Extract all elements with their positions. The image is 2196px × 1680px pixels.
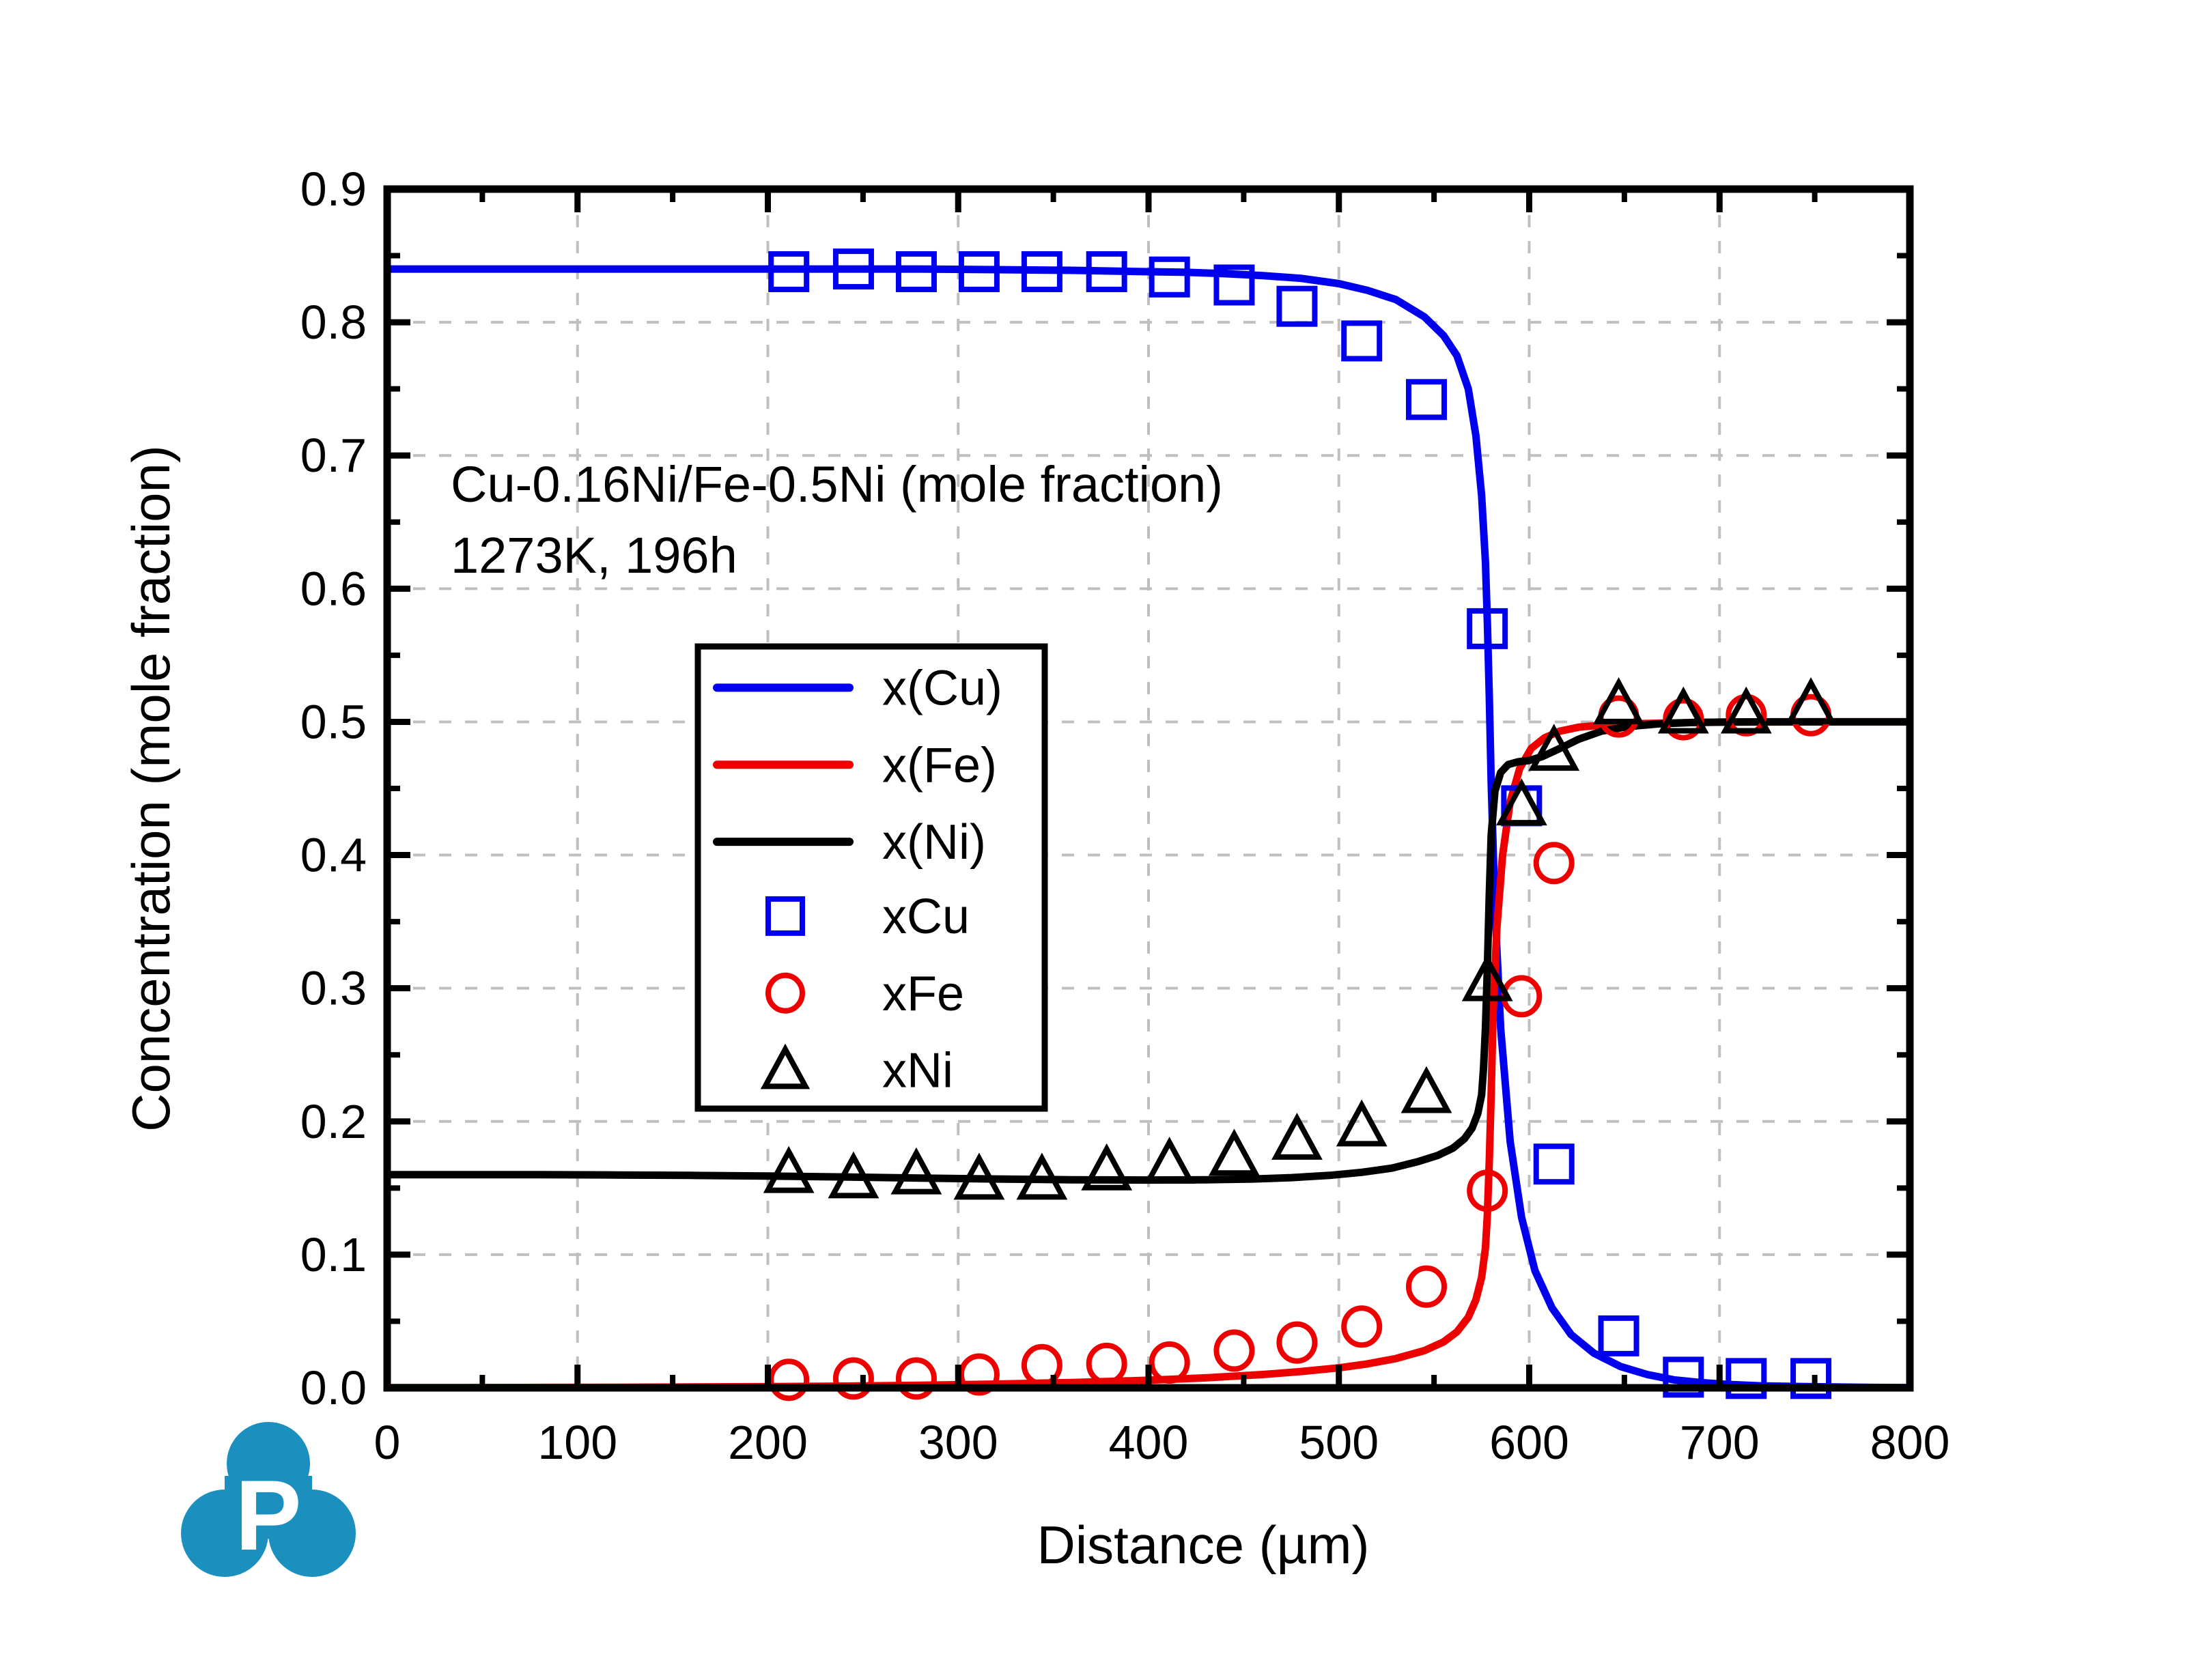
xtick-label: 300	[918, 1416, 998, 1469]
marker-square	[1409, 382, 1444, 417]
ytick-label: 0.0	[300, 1361, 367, 1414]
curve-xcu	[387, 269, 1910, 1388]
grid-lines	[387, 189, 1910, 1388]
x-axis-title: Distance (µm)	[1037, 1515, 1369, 1575]
ytick-label: 0.9	[300, 162, 367, 216]
marker-circle	[1216, 1332, 1252, 1369]
annotation-line: Cu-0.16Ni/Fe-0.5Ni (mole fraction)	[451, 456, 1223, 513]
marker-circle	[1536, 844, 1572, 881]
p-cloud-logo: P	[181, 1422, 356, 1577]
marker-triangle	[1405, 1072, 1447, 1110]
xtick-label: 600	[1489, 1416, 1569, 1469]
marker-triangle	[895, 1153, 937, 1191]
logo-letter: P	[235, 1460, 301, 1571]
marker-square	[1536, 1146, 1572, 1182]
concentration-profile-chart: 01002003004005006007008000.00.10.20.30.4…	[0, 0, 2196, 1680]
chart-legend[interactable]: x(Cu)x(Fe)x(Ni)xCuxFexNi	[698, 646, 1045, 1109]
ytick-label: 0.8	[300, 296, 367, 349]
marker-square	[1152, 259, 1187, 295]
marker-triangle	[1149, 1142, 1190, 1180]
ytick-label: 0.7	[300, 429, 367, 482]
marker-circle	[1152, 1344, 1187, 1381]
ytick-label: 0.6	[300, 562, 367, 615]
marker-circle	[1089, 1346, 1125, 1382]
xtick-label: 700	[1680, 1416, 1760, 1469]
model-curves	[387, 269, 1910, 1388]
legend-label: xFe	[882, 967, 964, 1021]
marker-circle	[1344, 1308, 1379, 1345]
ytick-label: 0.2	[300, 1095, 367, 1148]
marker-circle	[1409, 1268, 1444, 1305]
logo-mark: P	[181, 1422, 356, 1577]
marker-triangle	[768, 1152, 809, 1190]
marker-square	[1279, 289, 1314, 324]
legend-label: xNi	[882, 1044, 953, 1098]
marker-circle	[1279, 1324, 1314, 1361]
y-axis-title: Concentration (mole fraction)	[121, 445, 181, 1132]
ytick-label: 0.4	[300, 829, 367, 882]
tick-labels: 01002003004005006007008000.00.10.20.30.4…	[300, 162, 1950, 1469]
marker-circle	[771, 1361, 806, 1398]
ytick-label: 0.3	[300, 962, 367, 1015]
annotation-line: 1273K, 196h	[451, 527, 737, 584]
annotation-text: Cu-0.16Ni/Fe-0.5Ni (mole fraction)1273K,…	[451, 456, 1223, 584]
xtick-label: 200	[728, 1416, 808, 1469]
legend-box[interactable]	[698, 646, 1045, 1109]
legend-label: x(Ni)	[882, 815, 986, 870]
marker-triangle	[1276, 1118, 1318, 1156]
legend-label: x(Fe)	[882, 738, 997, 793]
xtick-label: 400	[1109, 1416, 1189, 1469]
marker-square	[1601, 1318, 1637, 1354]
marker-triangle	[1213, 1135, 1255, 1173]
ytick-label: 0.1	[300, 1228, 367, 1281]
legend-label: x(Cu)	[882, 661, 1002, 715]
legend-label: xCu	[882, 889, 970, 944]
chart-figure: 01002003004005006007008000.00.10.20.30.4…	[0, 0, 2196, 1680]
xtick-label: 500	[1299, 1416, 1379, 1469]
xtick-label: 800	[1870, 1416, 1950, 1469]
marker-square	[1344, 323, 1379, 358]
xtick-label: 0	[374, 1416, 401, 1469]
ytick-label: 0.5	[300, 695, 367, 748]
marker-triangle	[1341, 1105, 1383, 1143]
xtick-label: 100	[537, 1416, 617, 1469]
